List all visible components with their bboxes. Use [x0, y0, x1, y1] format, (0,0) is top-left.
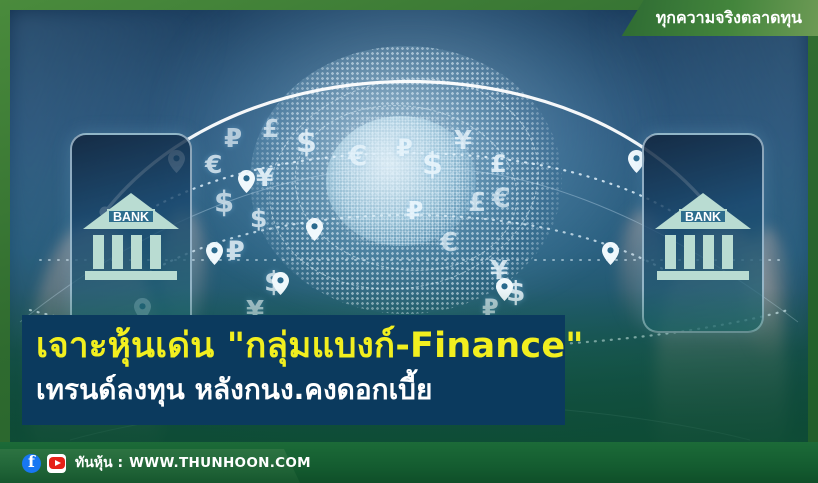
currency-symbol: $ [214, 188, 234, 217]
currency-symbol: $ [296, 128, 317, 158]
headline-panel: เจาะหุ้นเด่น "กลุ่มแบงก์-Finance" เทรนด์… [22, 315, 565, 425]
location-pin-icon [602, 242, 619, 265]
currency-symbol: ₽ [224, 126, 242, 152]
currency-symbol: € [348, 142, 367, 170]
screenshot-root: ₽£€$¥€₽¥$£€$$₽₽€£$¥$¥₽€ BANK [0, 0, 818, 483]
currency-symbol: € [492, 185, 511, 212]
currency-symbol: ¥ [454, 128, 472, 154]
page-title: เจาะหุ้นเด่น "กลุ่มแบงก์-Finance" [36, 318, 566, 373]
footer-bar: ทันหุ้น : WWW.THUNHOON.COM [0, 442, 818, 483]
bank-building-icon: BANK [651, 181, 755, 285]
currency-symbol: ¥ [256, 165, 273, 190]
location-pin-icon [206, 242, 223, 265]
location-pin-icon [306, 218, 323, 241]
currency-symbol: ₽ [396, 136, 413, 160]
currency-symbol: $ [422, 150, 443, 180]
tagline-text: ทุกความจริงตลาดทุน [656, 6, 802, 31]
brand-name: ทันหุ้น : [75, 452, 123, 474]
location-pin-icon [238, 170, 255, 193]
bank-label-left: BANK [113, 210, 149, 224]
currency-symbol: ₽ [406, 198, 423, 223]
currency-symbol: € [440, 230, 458, 256]
currency-symbol: £ [262, 116, 279, 141]
facebook-icon[interactable] [22, 454, 41, 473]
top-right-tagline-tab: ทุกความจริงตลาดทุน [622, 0, 818, 36]
currency-symbol: ₽ [226, 238, 245, 265]
bank-label-right: BANK [685, 210, 721, 224]
currency-symbol: £ [490, 152, 507, 176]
currency-symbol: € [205, 152, 222, 177]
page-subtitle: เทรนด์ลงทุน หลังกนง.คงดอกเบี้ย [36, 368, 566, 412]
footer-social-row: ทันหุ้น : WWW.THUNHOON.COM [22, 452, 311, 474]
youtube-icon[interactable] [47, 454, 66, 473]
currency-symbol: $ [250, 206, 267, 231]
website-url[interactable]: WWW.THUNHOON.COM [129, 455, 311, 471]
currency-symbol: £ [468, 190, 486, 216]
bank-building-icon: BANK [79, 181, 183, 285]
